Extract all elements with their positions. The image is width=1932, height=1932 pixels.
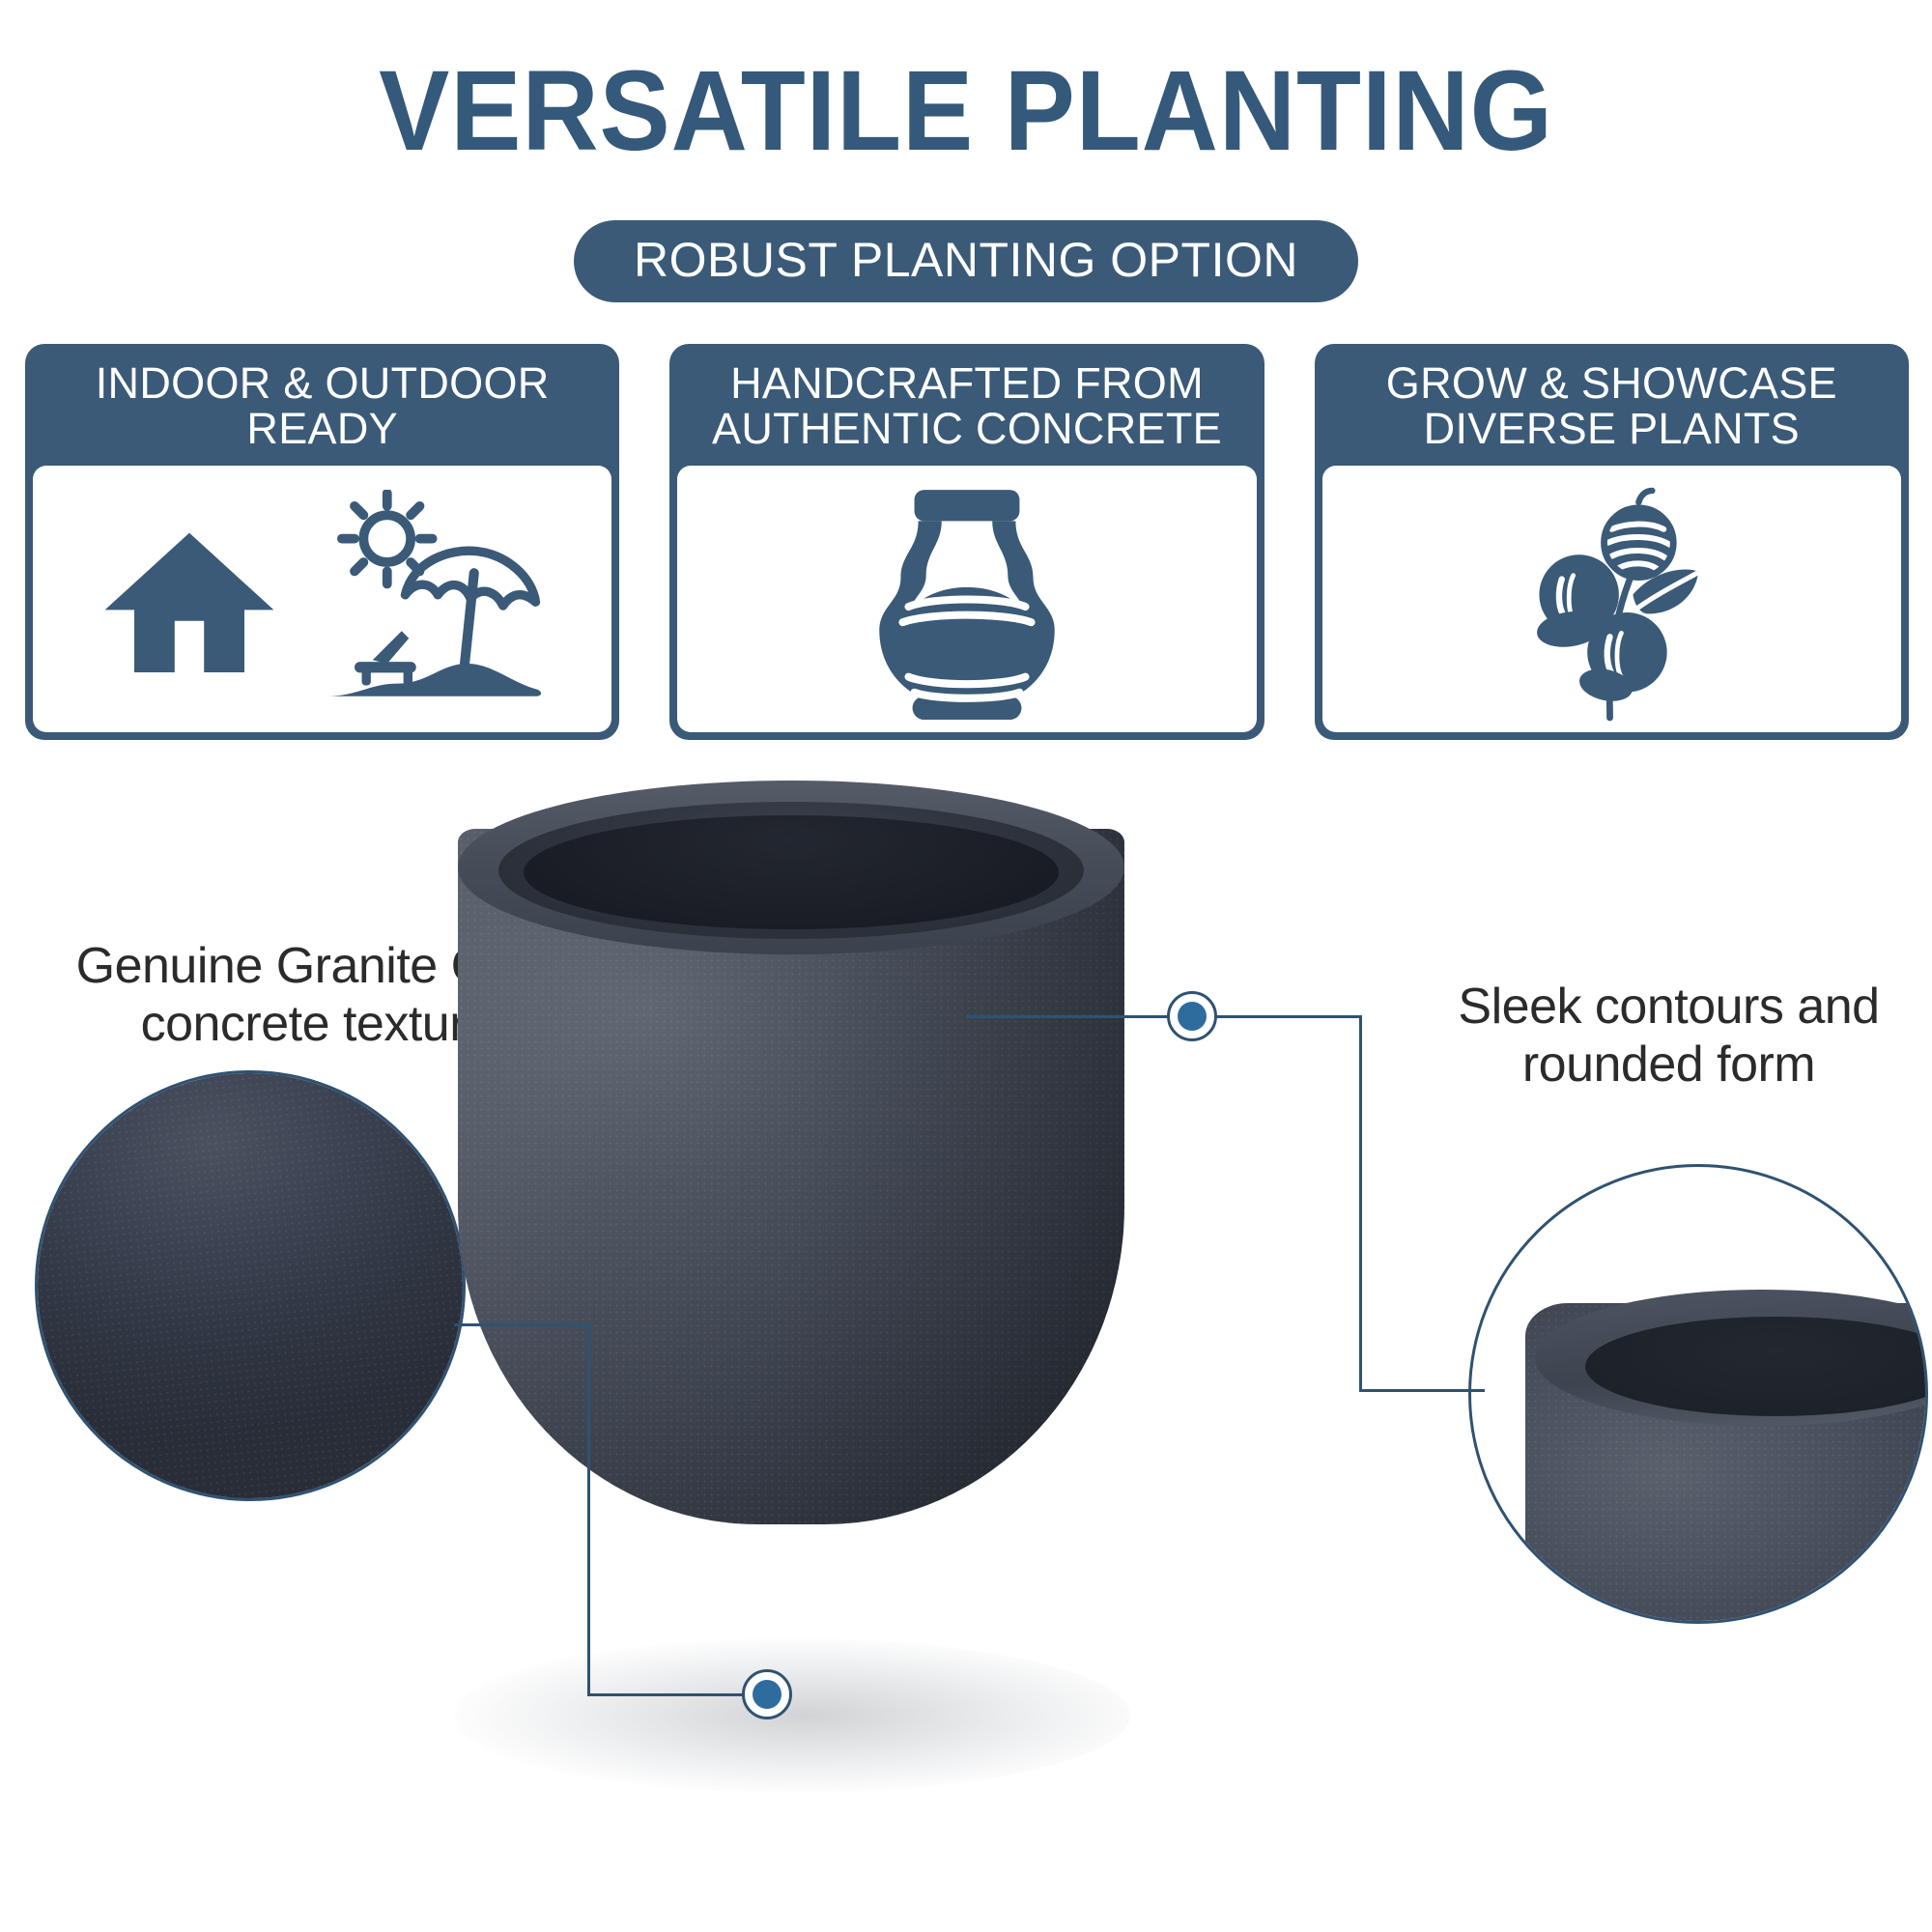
product-image [415,773,1169,1874]
subtitle-pill-wrap: ROBUST PLANTING OPTION [0,220,1932,302]
texture-closeup [35,1070,466,1501]
subtitle-pill: ROBUST PLANTING OPTION [574,220,1358,302]
detail-inset-rim-contour [1468,1164,1928,1624]
berry-branch-icon [1498,475,1725,722]
callout-label-contours: Sleek contours and rounded form [1406,978,1932,1094]
page-title: VERSATILE PLANTING [68,54,1864,168]
feature-card-authentic-concrete: HANDCRAFTED FROM AUTHENTIC CONCRETE [669,344,1264,740]
feature-card-heading: INDOOR & OUTDOOR READY [33,352,611,466]
feature-card-heading: GROW & SHOWCASE DIVERSE PLANTS [1322,352,1901,466]
feature-card-heading: HANDCRAFTED FROM AUTHENTIC CONCRETE [677,352,1256,466]
feature-card-icons [677,466,1256,732]
beach-umbrella-icon [306,490,548,707]
feature-card-diverse-plants: GROW & SHOWCASE DIVERSE PLANTS [1315,344,1909,740]
feature-card-row: INDOOR & OUTDOOR READY [25,344,1909,740]
vase-icon [866,478,1068,720]
detail-inset-concrete-texture [35,1070,466,1501]
feature-card-icons [1322,466,1901,732]
callout-marker-contours[interactable] [1167,991,1217,1041]
callout-marker-texture[interactable] [742,1669,792,1719]
planter-cavity [524,815,1059,929]
house-icon [98,507,281,691]
grain-overlay [35,1070,466,1501]
product-shadow [454,1638,1130,1793]
feature-card-icons [33,466,611,732]
connector-segment-vertical [1359,1015,1362,1392]
feature-card-indoor-outdoor: INDOOR & OUTDOOR READY [25,344,619,740]
connector-segment-to-inset [1359,1389,1485,1392]
